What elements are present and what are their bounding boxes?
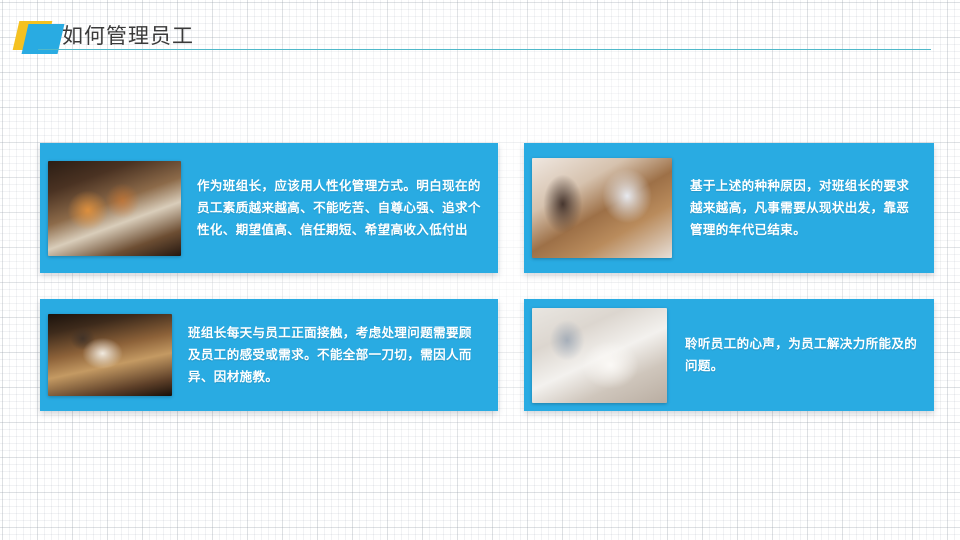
content-card[interactable]: 聆听员工的心声，为员工解决力所能及的问题。 <box>524 299 934 411</box>
title-divider <box>38 49 931 50</box>
card-photo-person-bed-laptop <box>532 308 667 403</box>
card-photo-desk-lamp-books <box>48 314 172 396</box>
content-card[interactable]: 班组长每天与员工正面接触，考虑处理问题需要顾及员工的感受或需求。不能全部一刀切，… <box>40 299 498 411</box>
content-card[interactable]: 基于上述的种种原因，对班组长的要求越来越高，凡事需要从现状出发，靠恶管理的年代已… <box>524 143 934 273</box>
card-photo-woman-laptop <box>532 158 672 258</box>
slide-header: 如何管理员工 <box>0 0 960 62</box>
card-text: 聆听员工的心声，为员工解决力所能及的问题。 <box>667 333 934 377</box>
content-card[interactable]: 作为班组长，应该用人性化管理方式。明白现在的员工素质越来越高、不能吃苦、自尊心强… <box>40 143 498 273</box>
card-text: 基于上述的种种原因，对班组长的要求越来越高，凡事需要从现状出发，靠恶管理的年代已… <box>672 175 934 241</box>
card-photo-meeting-desk <box>48 161 181 256</box>
card-text: 作为班组长，应该用人性化管理方式。明白现在的员工素质越来越高、不能吃苦、自尊心强… <box>181 175 498 241</box>
page-title: 如何管理员工 <box>62 22 194 50</box>
card-text: 班组长每天与员工正面接触，考虑处理问题需要顾及员工的感受或需求。不能全部一刀切，… <box>172 322 498 388</box>
